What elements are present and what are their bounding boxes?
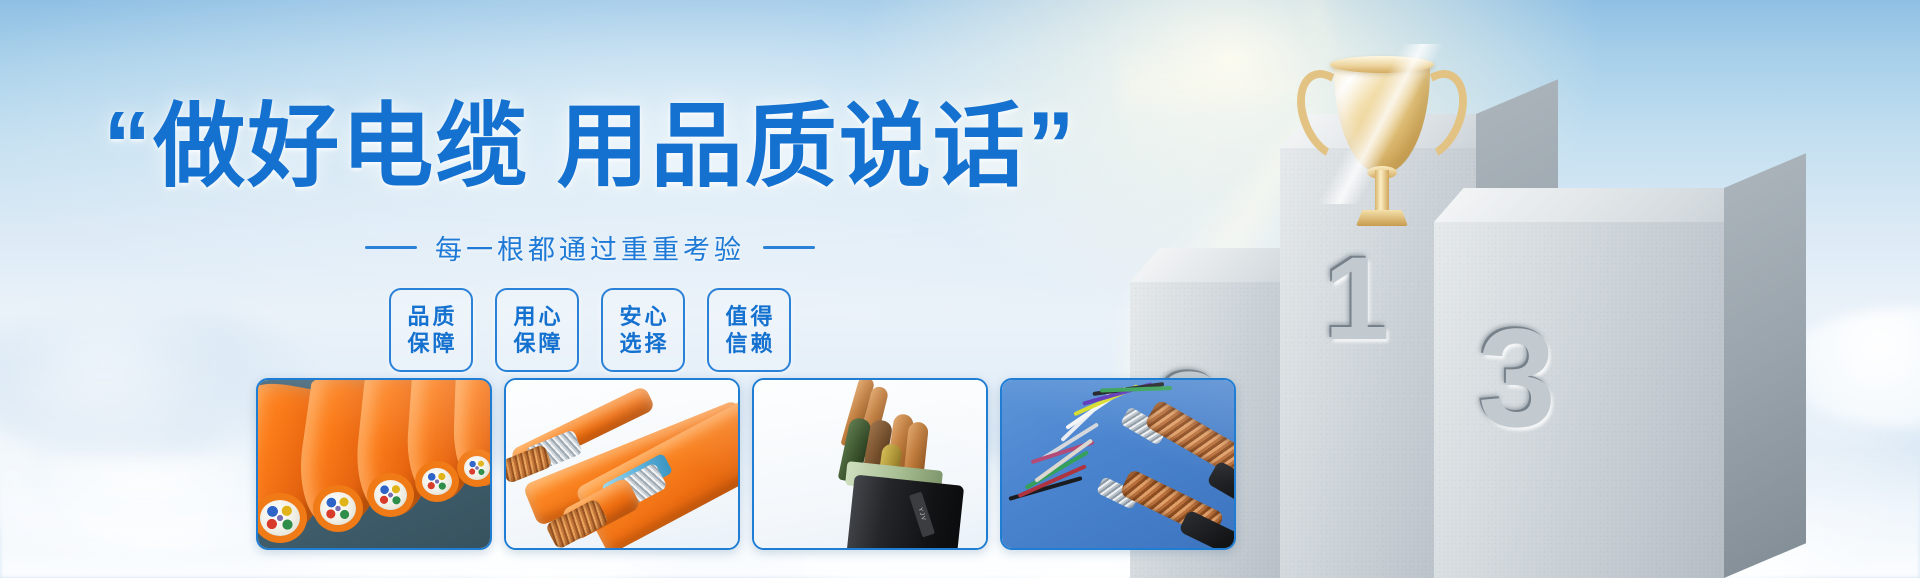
feature-badges: 品质 保障 用心 保障 安心 选择 值得 信赖 [0,288,1180,372]
badge-line-1: 用心 [510,303,563,331]
podium-rank-3: 3 [1478,308,1556,448]
product-photo-black-armored-power-cable: YJV [754,380,986,548]
product-card-row: YJV [256,378,1236,550]
close-quote: ” [1027,92,1077,199]
badge-attentive-guarantee[interactable]: 用心 保障 [495,288,579,372]
headline-text: 做好电缆 用品质说话 [153,96,1027,198]
product-photo-orange-multicore-cable-ends [258,380,490,548]
product-card-orange-multicore[interactable] [256,378,492,550]
product-photo-shielded-braided-control-cable [1002,380,1234,548]
badge-line-2: 信赖 [722,330,775,358]
hero-banner: 2 1 3 “做好电缆 用品质说话” 每一根都通过重重考验 [0,0,1920,578]
badge-line-2: 保障 [404,330,457,358]
subtitle-text: 每一根都通过重重考验 [435,228,745,267]
rule-right-icon [763,246,815,249]
badge-line-1: 品质 [404,303,457,331]
subtitle-row: 每一根都通过重重考验 [0,228,1180,267]
podium-rank-1: 1 [1324,240,1390,358]
podium-block-3: 3 [1434,222,1724,578]
banner-content: “做好电缆 用品质说话” 每一根都通过重重考验 品质 保障 用心 保障 安心 选… [0,0,1180,578]
product-card-armored-power[interactable]: YJV [752,378,988,550]
open-quote: “ [103,92,153,199]
badge-line-1: 值得 [722,303,775,331]
headline: “做好电缆 用品质说话” [0,72,1180,205]
badge-worry-free-choice[interactable]: 安心 选择 [601,288,685,372]
gold-trophy-icon [1296,44,1468,244]
product-photo-orange-copper-cable-cutaway [506,380,738,548]
badge-trustworthy[interactable]: 值得 信赖 [707,288,791,372]
rule-left-icon [365,246,417,249]
badge-line-1: 安心 [616,303,669,331]
product-card-shielded-control[interactable] [1000,378,1236,550]
product-card-orange-copper[interactable] [504,378,740,550]
badge-quality-guarantee[interactable]: 品质 保障 [389,288,473,372]
badge-line-2: 选择 [616,330,669,358]
badge-line-2: 保障 [510,330,563,358]
